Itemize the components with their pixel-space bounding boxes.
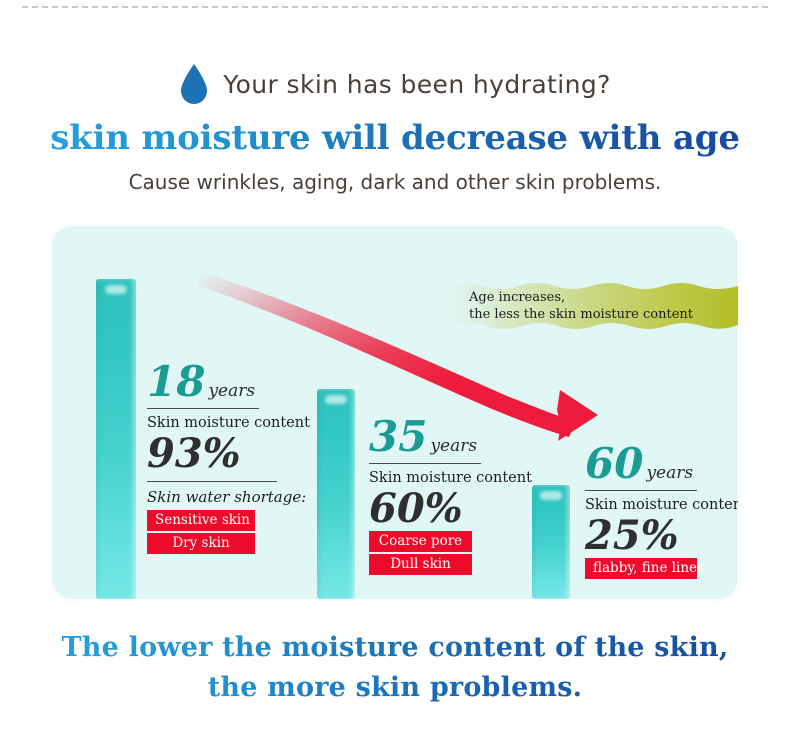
footer-tagline: The lower the moisture content of the sk… xyxy=(0,628,790,708)
problem-tags-35: Coarse pore Dull skin xyxy=(369,531,472,577)
moisture-percent-35: 60% xyxy=(369,487,532,531)
divider-age-35 xyxy=(369,463,481,464)
divider-age-18 xyxy=(147,408,259,409)
footer-tagline-line-1: The lower the moisture content of the sk… xyxy=(0,628,790,668)
problem-tags-60: flabby, fine lines xyxy=(585,558,697,581)
stat-group-18-years: 18 years Skin moisture content 93% Skin … xyxy=(147,361,310,556)
problem-tag: flabby, fine lines xyxy=(585,558,697,579)
age-number-35: 35 xyxy=(369,416,427,458)
annotation-banner-text: Age increases, the less the skin moistur… xyxy=(469,289,693,323)
age-number-60: 60 xyxy=(585,443,643,485)
header-question-row: Your skin has been hydrating? xyxy=(0,63,790,105)
top-divider xyxy=(22,6,768,8)
header-subtext: Cause wrinkles, aging, dark and other sk… xyxy=(0,170,790,194)
problem-tag: Dull skin xyxy=(369,554,472,575)
age-number-18: 18 xyxy=(147,361,205,403)
water-drop-icon xyxy=(179,63,209,105)
moisture-percent-60: 25% xyxy=(585,514,738,558)
annotation-line-2: the less the skin moisture content xyxy=(469,306,693,323)
age-unit-60: years xyxy=(646,463,693,483)
header-question: Your skin has been hydrating? xyxy=(223,70,611,99)
annotation-banner: Age increases, the less the skin moistur… xyxy=(447,280,738,332)
divider-percent-18 xyxy=(147,481,277,482)
moisture-percent-18: 93% xyxy=(147,432,310,476)
chart-panel: Age increases, the less the skin moistur… xyxy=(52,226,738,599)
problem-tag: Coarse pore xyxy=(369,531,472,552)
problem-tags-18: Sensitive skin Dry skin xyxy=(147,510,255,556)
stat-group-35-years: 35 years Skin moisture content 60% Coars… xyxy=(369,416,532,577)
moisture-label-35: Skin moisture content xyxy=(369,470,532,486)
moisture-label-18: Skin moisture content xyxy=(147,415,310,431)
age-unit-35: years xyxy=(430,436,477,456)
age-row-60: 60 years xyxy=(585,443,738,485)
age-row-35: 35 years xyxy=(369,416,532,458)
moisture-label-60: Skin moisture content xyxy=(585,497,738,513)
page-title: skin moisture will decrease with age xyxy=(0,118,790,158)
shortage-label-18: Skin water shortage: xyxy=(147,488,310,506)
age-unit-18: years xyxy=(208,381,255,401)
age-row-18: 18 years xyxy=(147,361,310,403)
footer-tagline-line-2: the more skin problems. xyxy=(0,668,790,708)
problem-tag: Sensitive skin xyxy=(147,510,255,531)
stat-group-60-years: 60 years Skin moisture content 25% flabb… xyxy=(585,443,738,581)
problem-tag: Dry skin xyxy=(147,533,255,554)
divider-age-60 xyxy=(585,490,697,491)
annotation-line-1: Age increases, xyxy=(469,289,693,306)
